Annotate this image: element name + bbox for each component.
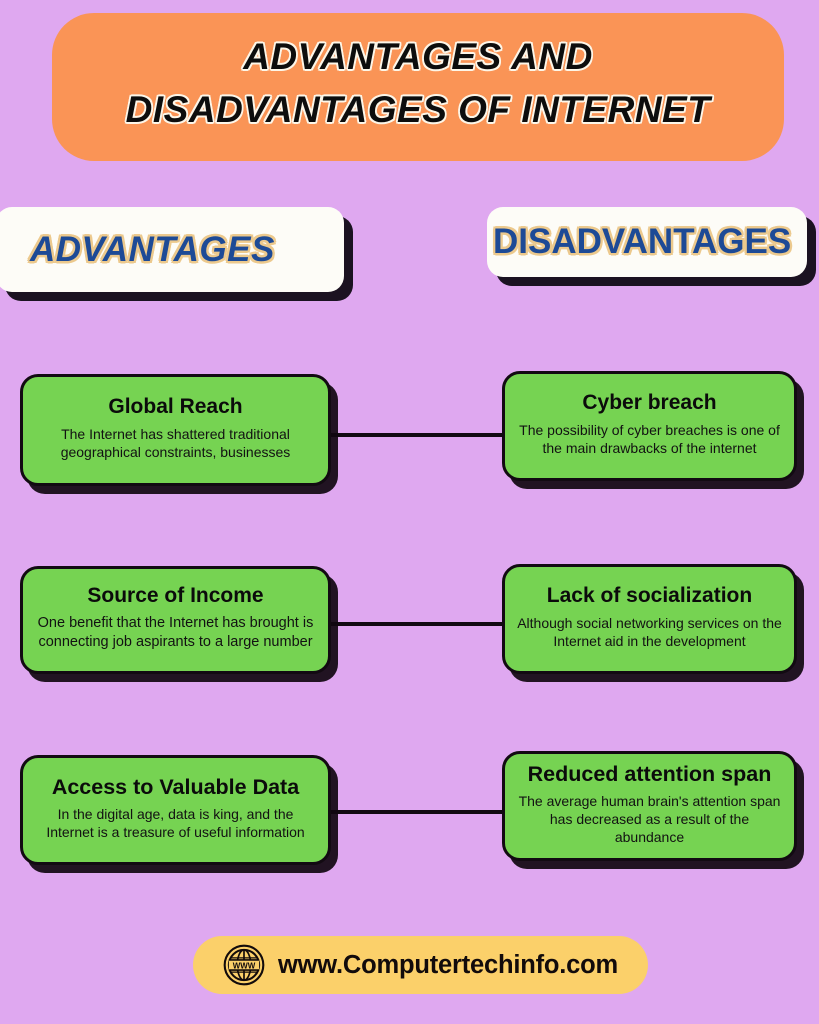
connector-line-row-3	[331, 810, 505, 814]
footer-url-text: www.Computertechinfo.com	[278, 951, 618, 980]
advantage-card-3-body: In the digital age, data is king, and th…	[46, 805, 304, 841]
connector-line-row-2	[331, 622, 505, 626]
advantage-card-1: Global Reach The Internet has shattered …	[20, 374, 331, 486]
title-line-1: ADVANTAGES AND	[243, 31, 593, 84]
title-banner: ADVANTAGES AND DISADVANTAGES OF INTERNET	[52, 13, 784, 161]
advantage-card-2-title: Source of Income	[87, 584, 263, 608]
title-line-2: DISADVANTAGES OF INTERNET	[126, 84, 711, 137]
disadvantage-card-3: Reduced attention span The average human…	[502, 751, 797, 861]
disadvantage-card-1-title: Cyber breach	[582, 391, 716, 415]
www-globe-icon: WWW	[223, 944, 265, 986]
column-header-advantages: ADVANTAGES	[0, 207, 344, 292]
disadvantage-card-2-body: Although social networking services on t…	[517, 614, 782, 650]
disadvantage-card-3-body: The average human brain's attention span…	[515, 792, 784, 847]
advantage-card-3: Access to Valuable Data In the digital a…	[20, 755, 331, 865]
disadvantage-card-1: Cyber breach The possibility of cyber br…	[502, 371, 797, 481]
infographic-canvas: ADVANTAGES AND DISADVANTAGES OF INTERNET…	[0, 0, 819, 1024]
advantage-card-3-title: Access to Valuable Data	[52, 775, 299, 799]
advantage-card-2-body: One benefit that the Internet has brough…	[38, 614, 314, 652]
column-header-advantages-label: ADVANTAGES	[30, 230, 275, 270]
disadvantage-card-2: Lack of socialization Although social ne…	[502, 564, 797, 674]
footer-url-pill[interactable]: WWW www.Computertechinfo.com	[193, 936, 648, 994]
disadvantage-card-2-title: Lack of socialization	[547, 584, 752, 608]
column-header-disadvantages: DISADVANTAGES	[487, 207, 807, 277]
advantage-card-1-title: Global Reach	[108, 395, 242, 419]
connector-line-row-1	[331, 433, 505, 437]
svg-text:WWW: WWW	[233, 961, 256, 970]
column-header-disadvantages-label: DISADVANTAGES	[493, 222, 791, 262]
advantage-card-1-body: The Internet has shattered traditional g…	[61, 425, 291, 461]
disadvantage-card-1-body: The possibility of cyber breaches is one…	[519, 421, 780, 457]
disadvantage-card-3-title: Reduced attention span	[528, 762, 772, 786]
advantage-card-2: Source of Income One benefit that the In…	[20, 566, 331, 674]
